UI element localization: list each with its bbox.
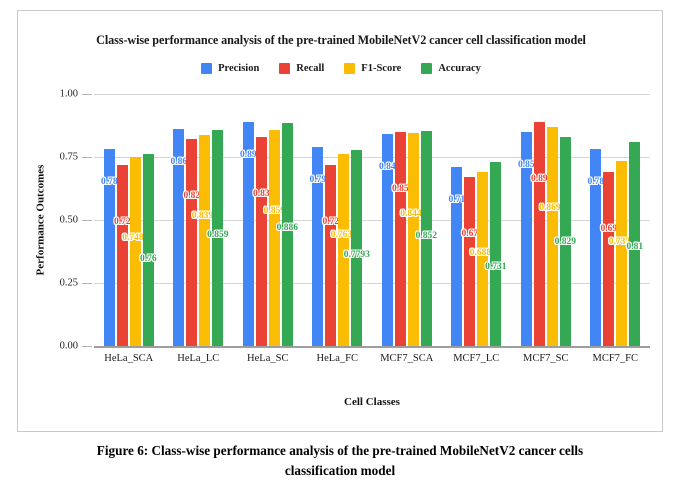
bar-precision[interactable]: 0.89 — [243, 122, 254, 346]
y-tick-mark — [82, 157, 92, 158]
x-tick-label: HeLa_FC — [317, 353, 358, 364]
figure-caption-line-2: classification model — [10, 461, 670, 481]
bar-group: 0.890.830.8590.886HeLa_SC — [233, 94, 303, 346]
legend-swatch-icon — [421, 63, 432, 74]
bar-precision[interactable]: 0.85 — [521, 132, 532, 346]
bar-value-label: 0.86 — [170, 157, 187, 167]
bar-recall[interactable]: 0.83 — [256, 137, 267, 346]
bar-value-label: 0.85 — [518, 160, 535, 170]
bar-value-label: 0.89 — [240, 150, 257, 160]
bar-precision[interactable]: 0.86 — [173, 129, 184, 346]
bar-f1-score[interactable]: 0.8393 — [199, 135, 210, 347]
figure-caption-line-1: Figure 6: Class-wise performance analysi… — [10, 441, 670, 461]
bar-value-label: 0.72 — [322, 217, 339, 227]
bar-recall[interactable]: 0.67 — [464, 177, 475, 346]
y-tick-label: 0.25 — [60, 278, 78, 289]
legend-item-precision[interactable]: Precision — [201, 63, 259, 74]
x-tick-label: HeLa_SCA — [104, 353, 153, 364]
figure-root: Class-wise performance analysis of the p… — [0, 0, 680, 503]
legend-item-recall[interactable]: Recall — [279, 63, 324, 74]
bar-recall[interactable]: 0.72 — [325, 165, 336, 346]
bar-value-label: 0.852 — [416, 231, 437, 241]
legend-label: Recall — [296, 63, 324, 74]
bar-value-label: 0.72 — [114, 217, 131, 227]
bar-group: 0.790.720.76330.7793HeLa_FC — [303, 94, 373, 346]
legend-swatch-icon — [344, 63, 355, 74]
bar-value-label: 0.85 — [392, 184, 409, 194]
y-tick-mark — [82, 283, 92, 284]
bar-group: 0.780.720.74880.76HeLa_SCA — [94, 94, 164, 346]
bar-value-label: 0.89 — [531, 174, 548, 184]
bar-f1-score[interactable]: 0.6888 — [477, 172, 488, 346]
bar-recall[interactable]: 0.85 — [395, 132, 406, 346]
bar-accuracy[interactable]: 0.76 — [143, 154, 154, 346]
bar-f1-score[interactable]: 0.7488 — [130, 157, 141, 346]
bar-value-label: 0.76 — [140, 254, 157, 264]
y-tick-mark — [82, 94, 92, 95]
bar-value-label: 0.84 — [379, 162, 396, 172]
bar-value-label: 0.78 — [587, 177, 604, 187]
bar-recall[interactable]: 0.72 — [117, 165, 128, 346]
bar-accuracy[interactable]: 0.7793 — [351, 150, 362, 346]
bar-value-label: 0.82 — [183, 191, 200, 201]
bar-accuracy[interactable]: 0.731 — [490, 162, 501, 346]
bar-value-label: 0.83 — [253, 189, 270, 199]
bar-precision[interactable]: 0.78 — [104, 149, 115, 346]
bar-f1-score[interactable]: 0.7327 — [616, 161, 627, 346]
chart-frame: Class-wise performance analysis of the p… — [17, 10, 663, 432]
bar-value-label: 0.859 — [207, 230, 228, 240]
bar-value-label: 0.731 — [485, 262, 506, 272]
figure-caption: Figure 6: Class-wise performance analysi… — [10, 441, 670, 482]
y-tick-label: 1.00 — [60, 89, 78, 100]
gridline — [94, 346, 650, 348]
bar-value-label: 0.81 — [626, 242, 643, 252]
chart-title: Class-wise performance analysis of the p… — [18, 33, 664, 48]
y-tick-label: 0.50 — [60, 215, 78, 226]
bar-precision[interactable]: 0.79 — [312, 147, 323, 346]
x-tick-label: MCF7_SCA — [380, 353, 433, 364]
bar-value-label: 0.829 — [555, 237, 576, 247]
bar-group: 0.850.890.86980.829MCF7_SC — [511, 94, 581, 346]
legend-swatch-icon — [279, 63, 290, 74]
chart-legend: PrecisionRecallF1-ScoreAccuracy — [18, 63, 664, 74]
y-tick-mark — [82, 346, 92, 347]
legend-swatch-icon — [201, 63, 212, 74]
y-tick-mark — [82, 220, 92, 221]
bar-recall[interactable]: 0.82 — [186, 139, 197, 346]
bar-group: 0.710.670.68880.731MCF7_LC — [442, 94, 512, 346]
bar-accuracy[interactable]: 0.859 — [212, 130, 223, 346]
bar-f1-score[interactable]: 0.8698 — [547, 127, 558, 346]
x-tick-label: MCF7_FC — [592, 353, 638, 364]
legend-label: F1-Score — [361, 63, 401, 74]
legend-label: Precision — [218, 63, 259, 74]
bar-f1-score[interactable]: 0.7633 — [338, 154, 349, 346]
bar-value-label: 0.886 — [277, 223, 298, 233]
x-tick-label: HeLa_SC — [247, 353, 288, 364]
x-tick-label: MCF7_SC — [523, 353, 569, 364]
legend-item-f1-score[interactable]: F1-Score — [344, 63, 401, 74]
y-axis-title-text: Performance Outcomes — [34, 165, 46, 276]
bar-group: 0.780.690.73270.81MCF7_FC — [581, 94, 651, 346]
legend-item-accuracy[interactable]: Accuracy — [421, 63, 481, 74]
bar-group: 0.860.820.83930.859HeLa_LC — [164, 94, 234, 346]
legend-label: Accuracy — [438, 63, 481, 74]
bar-value-label: 0.78 — [101, 177, 118, 187]
bar-accuracy[interactable]: 0.886 — [282, 123, 293, 346]
plot-area: 0.000.250.500.751.00 0.780.720.74880.76H… — [94, 94, 650, 346]
bar-accuracy[interactable]: 0.852 — [421, 131, 432, 346]
bar-value-label: 0.79 — [309, 175, 326, 185]
bar-precision[interactable]: 0.84 — [382, 134, 393, 346]
bar-groups: 0.780.720.74880.76HeLa_SCA0.860.820.8393… — [94, 94, 650, 346]
x-tick-label: MCF7_LC — [453, 353, 499, 364]
bar-f1-score[interactable]: 0.8444 — [408, 133, 419, 346]
x-axis-title: Cell Classes — [94, 396, 650, 408]
bar-value-label: 0.71 — [448, 195, 465, 205]
bar-value-label: 0.69 — [600, 224, 617, 234]
bar-recall[interactable]: 0.69 — [603, 172, 614, 346]
y-tick-label: 0.75 — [60, 152, 78, 163]
y-tick-label: 0.00 — [60, 341, 78, 352]
bar-recall[interactable]: 0.89 — [534, 122, 545, 346]
bar-precision[interactable]: 0.71 — [451, 167, 462, 346]
bar-value-label: 0.67 — [461, 229, 478, 239]
x-tick-label: HeLa_LC — [177, 353, 219, 364]
bar-f1-score[interactable]: 0.859 — [269, 130, 280, 346]
bar-precision[interactable]: 0.78 — [590, 149, 601, 346]
bar-accuracy[interactable]: 0.829 — [560, 137, 571, 346]
bar-accuracy[interactable]: 0.81 — [629, 142, 640, 346]
bar-group: 0.840.850.84440.852MCF7_SCA — [372, 94, 442, 346]
y-axis-title: Performance Outcomes — [32, 94, 48, 346]
